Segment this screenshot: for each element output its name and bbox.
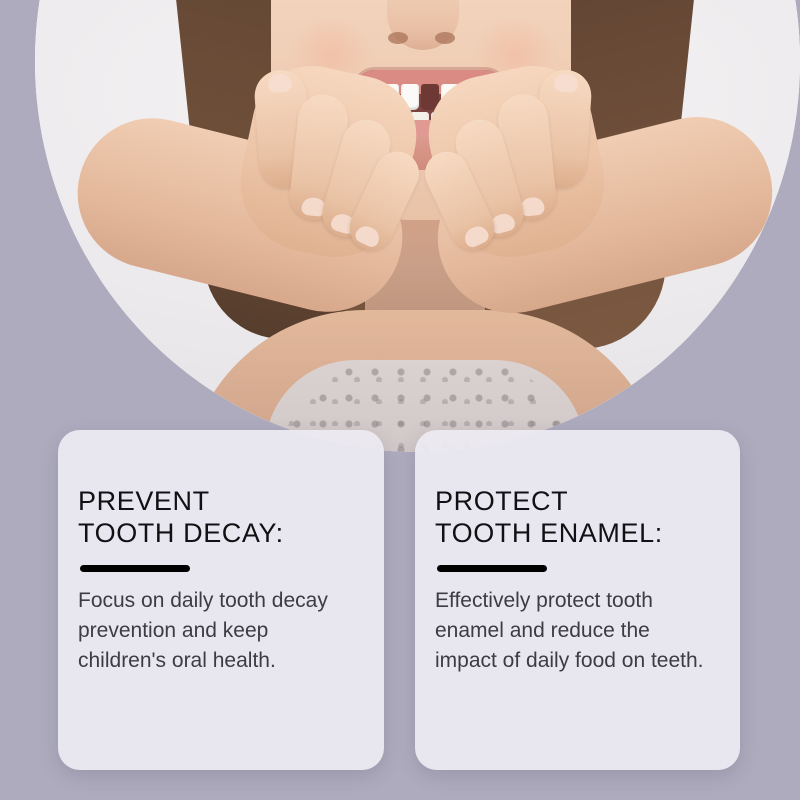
info-card-protect-tooth-enamel[interactable]: PROTECT TOOTH ENAMEL: Effectively protec… — [415, 430, 740, 770]
photo-viewport — [35, 0, 800, 452]
card-body: Effectively protect tooth enamel and red… — [435, 586, 714, 676]
fingernail — [267, 73, 292, 93]
card-title: PROTECT TOOTH ENAMEL: — [435, 486, 714, 549]
nostril-left — [388, 32, 408, 44]
girl-figure — [35, 0, 800, 452]
title-divider — [80, 565, 190, 572]
nostril-right — [435, 32, 455, 44]
fingernail — [462, 223, 491, 249]
card-title: PREVENT TOOTH DECAY: — [78, 486, 358, 549]
title-divider — [437, 565, 547, 572]
fingernail — [554, 73, 579, 93]
photo-scene — [35, 0, 800, 452]
poster-canvas: PREVENT TOOTH DECAY: Focus on daily toot… — [0, 0, 800, 800]
fingernail — [353, 223, 382, 249]
child-showing-teeth-photo — [35, 0, 800, 452]
info-card-prevent-tooth-decay[interactable]: PREVENT TOOTH DECAY: Focus on daily toot… — [58, 430, 384, 770]
card-body: Focus on daily tooth decay prevention an… — [78, 586, 358, 676]
